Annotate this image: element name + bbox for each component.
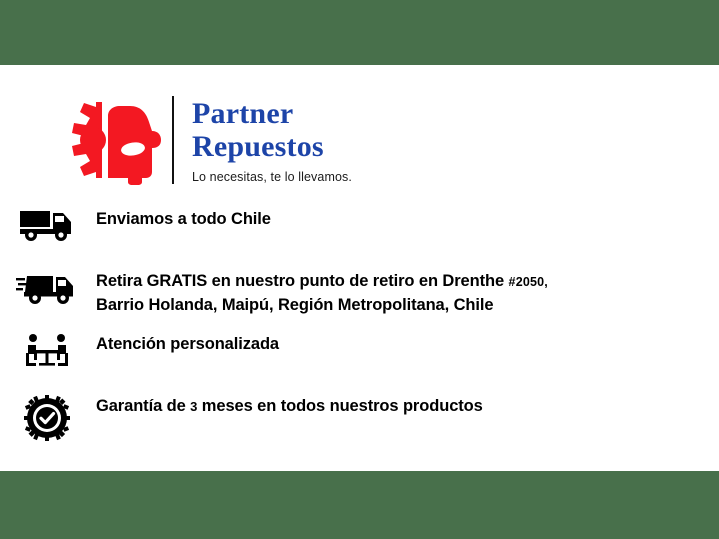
feature-text-attention: Atención personalizada (78, 333, 719, 356)
warranty-text-part-1: Garantía de (96, 397, 190, 415)
feature-list: Enviamos a todo Chile (0, 206, 719, 457)
gear-car-logo-icon (60, 94, 166, 186)
pickup-text-part-1: Retira GRATIS en nuestro punto de retiro… (96, 272, 509, 290)
verified-badge-icon (16, 395, 78, 441)
brand-name-line-2: Repuestos (192, 130, 352, 163)
feature-row-warranty: Garantía de 3 meses en todos nuestros pr… (0, 395, 719, 441)
brand-name-line-1: Partner (192, 97, 352, 130)
bottom-green-band (0, 471, 719, 539)
brand-wordmark: Partner Repuestos Lo necesitas, te lo ll… (192, 97, 352, 184)
promo-banner: Partner Repuestos Lo necesitas, te lo ll… (0, 0, 719, 539)
brand-tagline: Lo necesitas, te lo llevamos. (192, 170, 352, 184)
feature-row-attention: Atención personalizada (0, 333, 719, 379)
feature-text-pickup: Retira GRATIS en nuestro punto de retiro… (78, 270, 719, 317)
warranty-text-part-2: meses en todos nuestros productos (197, 397, 482, 415)
feature-row-pickup: Retira GRATIS en nuestro punto de retiro… (0, 270, 719, 317)
feature-text-warranty: Garantía de 3 meses en todos nuestros pr… (78, 395, 719, 418)
moving-truck-icon (16, 270, 78, 306)
pickup-text-part-2: Barrio Holanda, Maipú, Región Metropolit… (96, 294, 699, 317)
logo-divider (172, 96, 174, 184)
feature-text-shipping: Enviamos a todo Chile (78, 208, 719, 231)
pickup-address-number: #2050, (509, 275, 548, 289)
meeting-table-icon (16, 333, 78, 369)
top-green-band (0, 0, 719, 65)
brand-logo-block: Partner Repuestos Lo necesitas, te lo ll… (60, 94, 352, 186)
feature-row-shipping: Enviamos a todo Chile (0, 208, 719, 254)
delivery-truck-icon (16, 208, 78, 242)
